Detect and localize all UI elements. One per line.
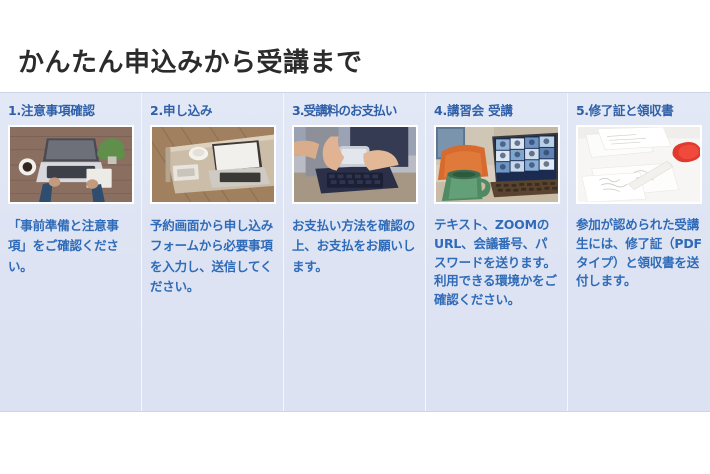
- step-column-1[interactable]: 1.注意事項確認: [0, 93, 142, 411]
- laptop-zoom-meeting-grid-photo: [434, 125, 560, 204]
- steps-panel: 1.注意事項確認: [0, 92, 710, 412]
- slide-root: かんたん申込みから受講まで 1.注意事項確認: [0, 0, 710, 474]
- step-heading-2: 2.申し込み: [150, 103, 275, 118]
- step-body-2: 予約画面から申し込みフォームから必要事項を入力し、送信してください。: [150, 216, 275, 297]
- desk-laptop-topdown-photo: [8, 125, 134, 204]
- step-heading-5: 5.修了証と領収書: [576, 103, 702, 118]
- step-column-4[interactable]: 4.講習会 受講: [426, 93, 568, 411]
- page-title: かんたん申込みから受講まで: [18, 42, 363, 79]
- step-body-4: テキスト、ZOOMのURL、会議番号、パスワードを送ります。 利用できる環境かを…: [434, 216, 559, 310]
- hands-holding-smartphone-photo: [292, 125, 418, 204]
- white-documents-with-red-accent-photo: [576, 125, 702, 204]
- step-column-2[interactable]: 2.申し込み: [142, 93, 284, 411]
- step-body-1: 「事前準備と注意事項」をご確認ください。: [8, 216, 133, 277]
- step-column-3[interactable]: 3.受講料のお支払い: [284, 93, 426, 411]
- step-heading-1: 1.注意事項確認: [8, 103, 133, 118]
- step-column-5[interactable]: 5.修了証と領収書: [568, 93, 710, 411]
- step-heading-4: 4.講習会 受講: [434, 103, 559, 118]
- step-body-5: 参加が認められた受講生には、修了証（PDFタイプ）と領収書を送付します。: [576, 216, 702, 291]
- step-heading-3: 3.受講料のお支払い: [292, 103, 417, 118]
- step-body-3: お支払い方法を確認の上、お支払をお願いします。: [292, 216, 417, 277]
- laptop-on-wooden-table-photo: [150, 125, 276, 204]
